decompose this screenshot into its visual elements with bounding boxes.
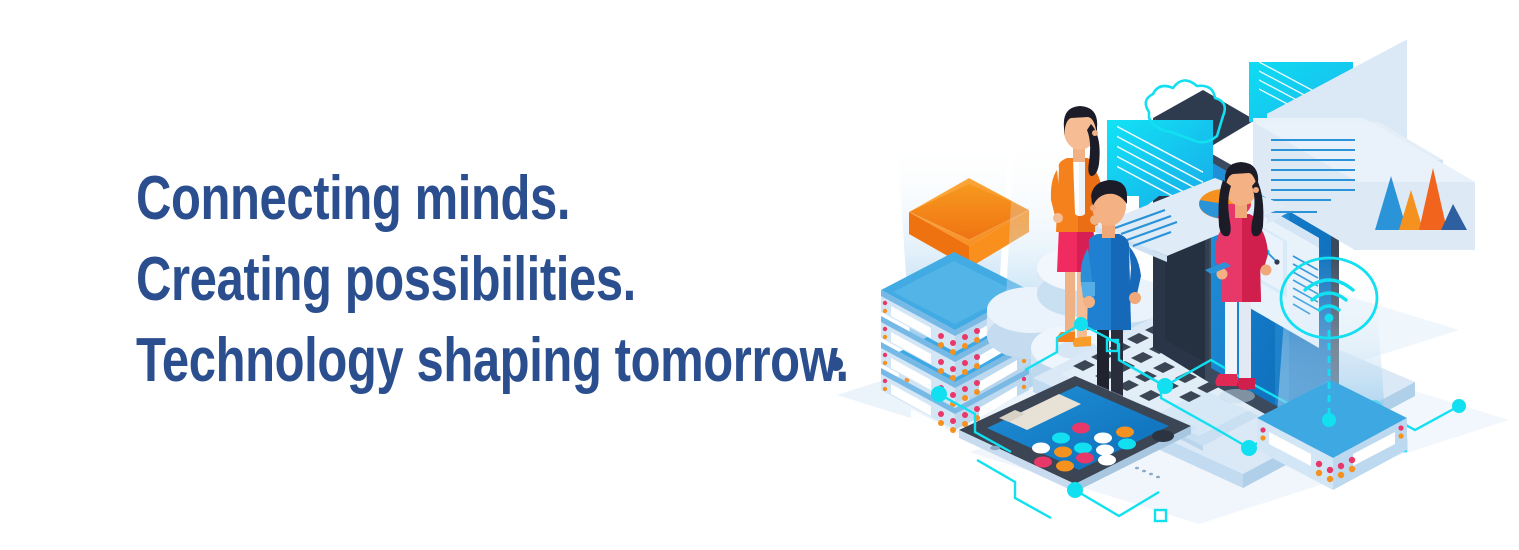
headline-line-3: Technology shaping tomorrow. xyxy=(136,320,736,401)
headline-line-2: Creating possibilities. xyxy=(136,239,736,320)
isometric-technology-illustration xyxy=(819,0,1519,550)
hero-banner: Connecting minds. Creating possibilities… xyxy=(0,0,1519,550)
headline-line-1: Connecting minds. xyxy=(136,158,736,239)
page-title: Connecting minds. Creating possibilities… xyxy=(136,158,896,401)
